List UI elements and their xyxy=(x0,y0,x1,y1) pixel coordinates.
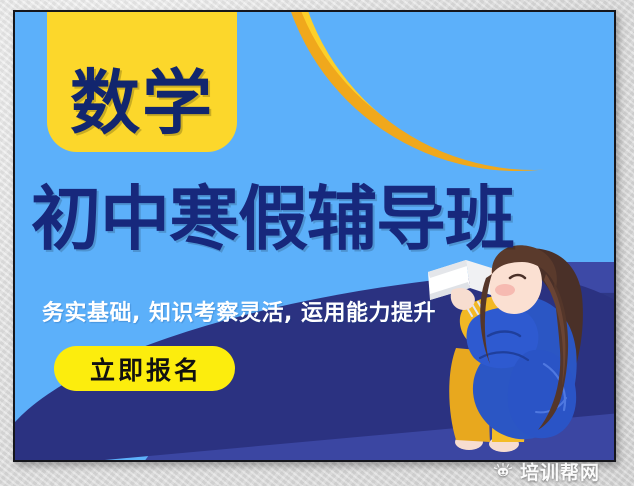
site-watermark: 培训帮网 xyxy=(492,458,600,485)
enroll-now-label: 立即报名 xyxy=(87,351,202,387)
watermark-text: 培训帮网 xyxy=(520,458,600,485)
course-poster: 数学 初中寒假辅导班 务实基础, 知识考察灵活, 运用能力提升 立即报名 xyxy=(13,10,616,462)
subject-label: 数学 xyxy=(70,68,214,138)
poster-subheadline: 务实基础, 知识考察灵活, 运用能力提升 xyxy=(42,295,436,327)
illustration-girl-reading xyxy=(420,244,616,462)
subject-badge: 数学 xyxy=(47,10,237,152)
top-right-swoosh-inner-cutout xyxy=(294,10,616,170)
poster-headline: 初中寒假辅导班 xyxy=(31,184,611,254)
enroll-now-button[interactable]: 立即报名 xyxy=(54,346,235,391)
sun-face-icon xyxy=(492,461,514,483)
